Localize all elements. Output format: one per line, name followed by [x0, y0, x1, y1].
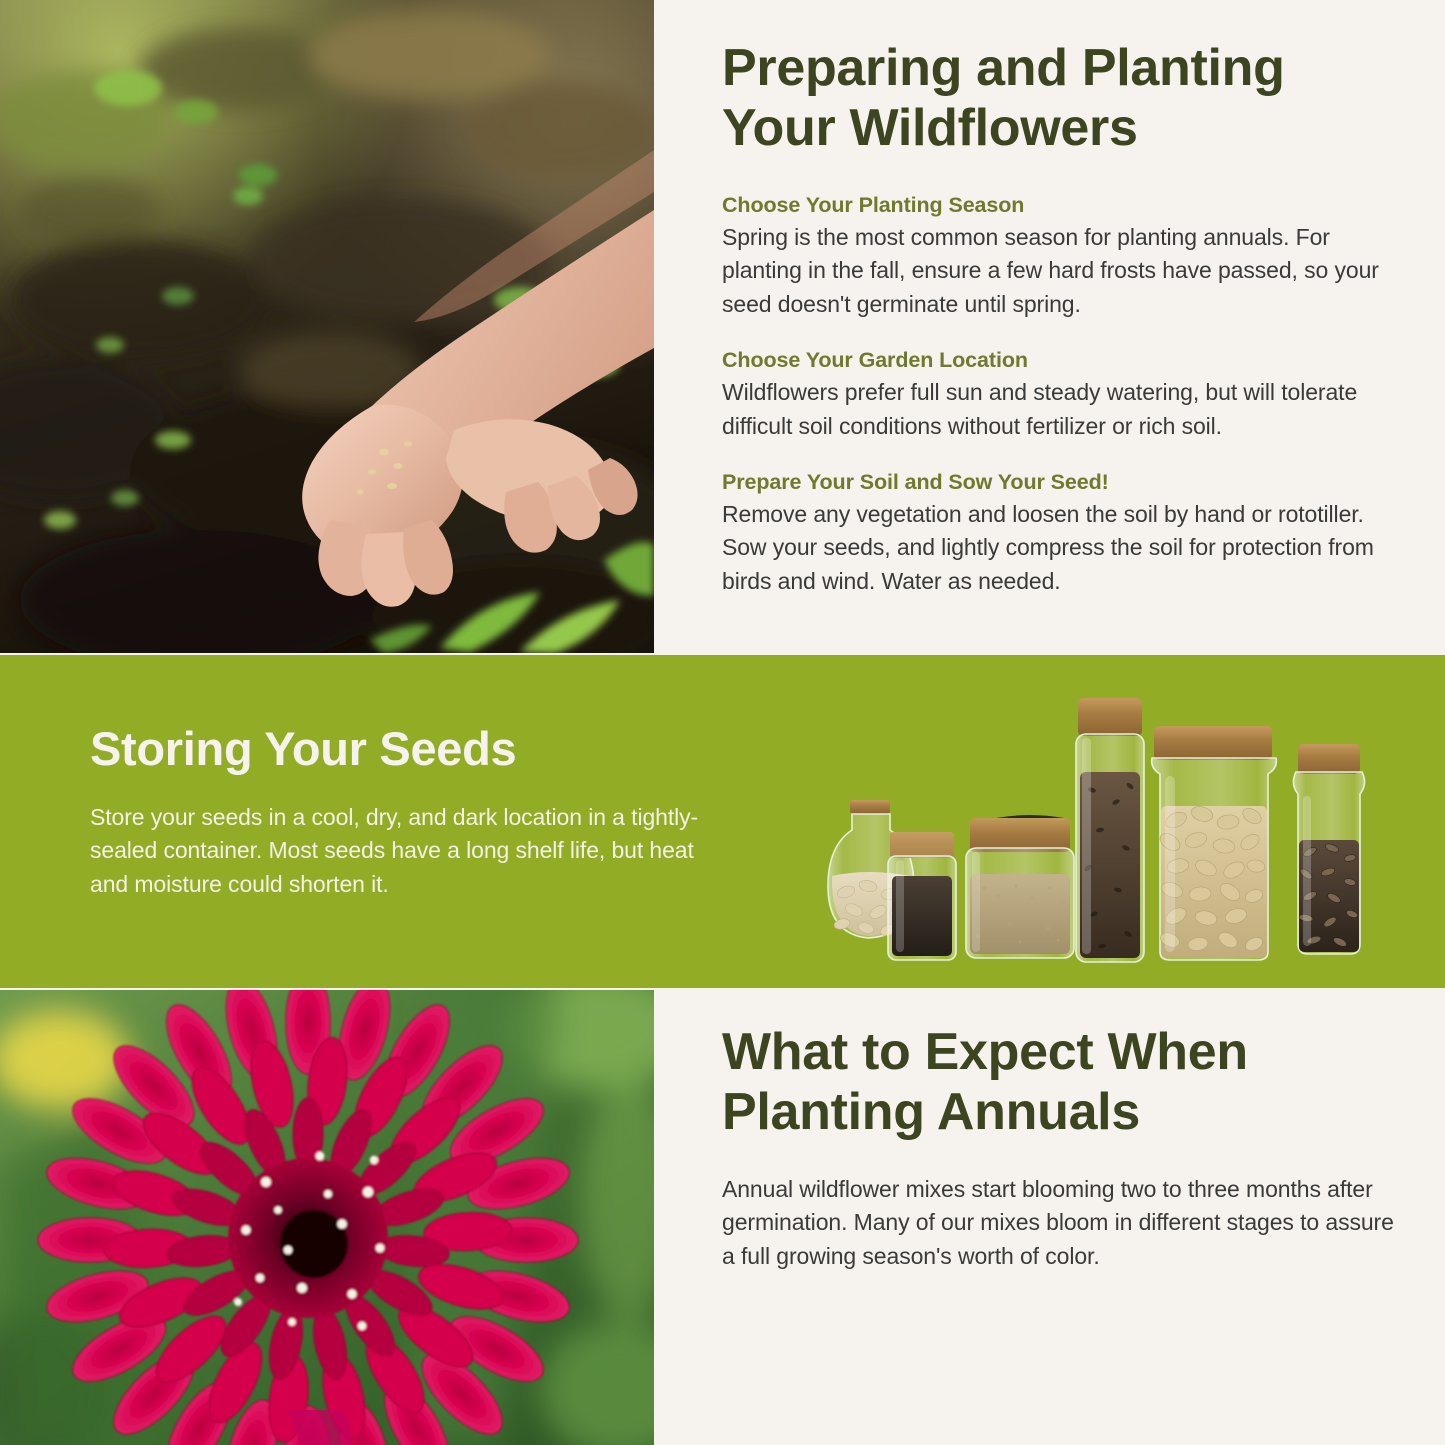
body-prepare-soil-sow-seed: Remove any vegetation and loosen the soi…: [722, 498, 1394, 599]
storing-text-column: Storing Your Seeds Store your seeds in a…: [90, 723, 715, 902]
block-choose-garden-location: Choose Your Garden Location Wildflowers …: [722, 348, 1394, 444]
preparing-text-column: Preparing and Planting Your Wildflowers …: [722, 38, 1394, 599]
jar-fine-tan-seeds: [966, 815, 1074, 958]
soil-photo-illustration: [0, 0, 654, 653]
subheading-choose-garden-location: Choose Your Garden Location: [722, 348, 1394, 373]
jar-tall-dark-seeds: [1076, 698, 1144, 962]
subheading-choose-planting-season: Choose Your Planting Season: [722, 193, 1394, 218]
block-prepare-soil-sow-seed: Prepare Your Soil and Sow Your Seed! Rem…: [722, 470, 1394, 599]
infographic-page: Preparing and Planting Your Wildflowers …: [0, 0, 1445, 1445]
body-choose-planting-season: Spring is the most common season for pla…: [722, 221, 1394, 322]
jar-sunflower-seeds: [1293, 744, 1364, 954]
jar-pumpkin-seeds: [1152, 726, 1277, 960]
page-title-preparing: Preparing and Planting Your Wildflowers: [722, 38, 1394, 159]
body-choose-garden-location: Wildflowers prefer full sun and steady w…: [722, 376, 1394, 444]
section-storing-your-seeds: Storing Your Seeds Store your seeds in a…: [0, 655, 1445, 988]
page-title-what-to-expect: What to Expect When Planting Annuals: [722, 1022, 1394, 1143]
body-storing-your-seeds: Store your seeds in a cool, dry, and dar…: [90, 801, 715, 902]
seed-storage-jars-photo: [820, 690, 1385, 965]
section-preparing-and-planting: Preparing and Planting Your Wildflowers …: [0, 0, 1445, 655]
cornflower-illustration: [0, 990, 654, 1445]
hand-sowing-seeds-in-soil-photo: [0, 0, 654, 653]
seed-jars-illustration: [820, 690, 1385, 965]
pink-cornflower-bloom-photo: [0, 990, 654, 1445]
body-what-to-expect: Annual wildflower mixes start blooming t…: [722, 1173, 1394, 1274]
what-to-expect-text-column: What to Expect When Planting Annuals Ann…: [722, 1022, 1394, 1274]
page-title-storing: Storing Your Seeds: [90, 723, 715, 775]
jar-black-seeds: [888, 832, 956, 960]
subheading-prepare-soil-sow-seed: Prepare Your Soil and Sow Your Seed!: [722, 470, 1394, 495]
block-choose-planting-season: Choose Your Planting Season Spring is th…: [722, 193, 1394, 322]
